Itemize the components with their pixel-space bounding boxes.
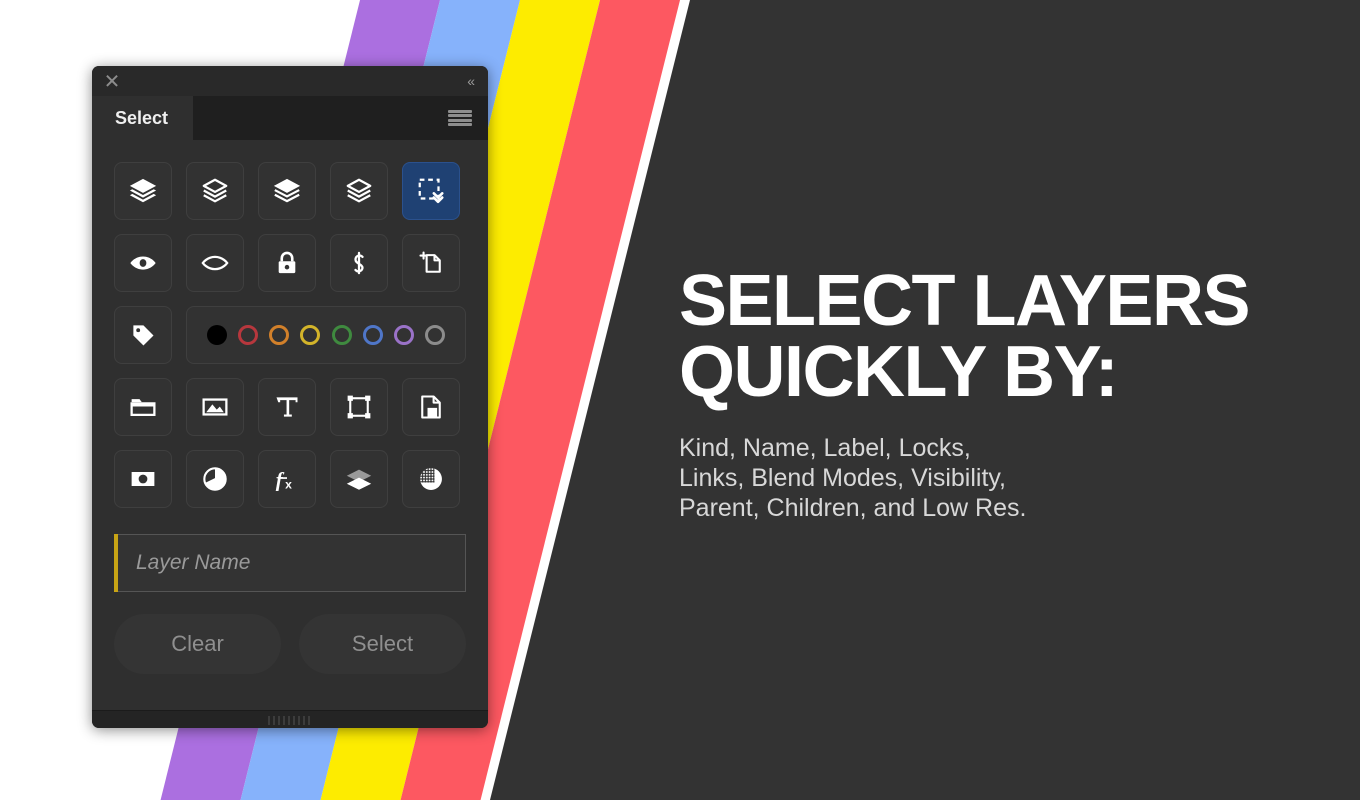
shape-nodes-icon — [345, 393, 373, 421]
group-folder-button[interactable] — [114, 378, 172, 436]
tab-select-label: Select — [115, 108, 168, 129]
tab-select[interactable]: Select — [92, 96, 193, 140]
marquee-chevron-icon — [416, 176, 446, 206]
page-title: SELECT LAYERS QUICKLY BY: — [679, 266, 1299, 409]
panel-footer — [92, 710, 488, 728]
bottom-layers-button[interactable] — [330, 162, 388, 220]
mask-icon — [129, 465, 157, 493]
linked-layers-button[interactable] — [330, 234, 388, 292]
layers-stack-bottom-outline-icon — [344, 176, 374, 206]
image-icon — [201, 393, 229, 421]
blend-mode-button[interactable] — [330, 450, 388, 508]
layer-name-field — [114, 534, 466, 592]
swatch-none[interactable] — [207, 325, 227, 345]
all-layers-button[interactable] — [114, 162, 172, 220]
lock-icon — [273, 249, 301, 277]
select-panel: « Select — [92, 66, 488, 728]
swatch-violet[interactable] — [394, 325, 414, 345]
folder-icon — [129, 393, 157, 421]
promo-subtext: Kind, Name, Label, Locks, Links, Blend M… — [679, 433, 1199, 523]
low-res-button[interactable] — [402, 450, 460, 508]
svg-text:f: f — [276, 470, 285, 492]
blend-layers-icon — [344, 464, 374, 494]
half-circle-icon — [201, 465, 229, 493]
label-color-swatches — [186, 306, 466, 364]
eye-empty-icon — [200, 248, 230, 278]
pixel-mask-button[interactable] — [114, 450, 172, 508]
filter-row-label-colors — [114, 306, 466, 364]
shape-layer-button[interactable] — [330, 378, 388, 436]
filter-row-layer-types — [114, 378, 466, 436]
smart-object-button[interactable] — [402, 378, 460, 436]
swatch-red[interactable] — [238, 325, 258, 345]
close-icon[interactable] — [104, 73, 120, 89]
marquee-select-button[interactable] — [402, 162, 460, 220]
headline-line-1: SELECT LAYERS — [679, 266, 1299, 337]
resize-grip[interactable] — [268, 716, 312, 725]
eye-open-icon — [128, 248, 158, 278]
swatch-green[interactable] — [332, 325, 352, 345]
swatch-orange[interactable] — [269, 325, 289, 345]
filter-row-effects: f x — [114, 450, 466, 508]
panel-actions: Clear Select — [114, 614, 466, 674]
text-layer-button[interactable] — [258, 378, 316, 436]
adjustment-layer-button[interactable] — [186, 450, 244, 508]
visible-layers-button[interactable] — [114, 234, 172, 292]
label-color-button[interactable] — [114, 306, 172, 364]
low-res-halftone-icon — [417, 465, 445, 493]
locked-layers-button[interactable] — [258, 234, 316, 292]
hidden-layers-button[interactable] — [186, 234, 244, 292]
top-layer-button[interactable] — [258, 162, 316, 220]
hamburger-icon[interactable] — [448, 110, 472, 126]
layers-stack-filled-icon — [128, 176, 158, 206]
layer-name-input[interactable] — [118, 534, 466, 592]
new-document-button[interactable] — [402, 234, 460, 292]
headline-line-2: QUICKLY BY: — [679, 337, 1299, 408]
collapse-panel-icon[interactable]: « — [467, 72, 474, 90]
type-t-icon — [273, 393, 301, 421]
panel-body: f x — [92, 140, 488, 710]
link-chain-icon — [345, 249, 373, 277]
filter-row-layer-kinds — [114, 162, 466, 220]
subtext-line-3: Parent, Children, and Low Res. — [679, 493, 1199, 523]
fx-icon: f x — [272, 464, 302, 494]
stage: « Select — [0, 0, 1360, 800]
image-layer-button[interactable] — [186, 378, 244, 436]
select-button[interactable]: Select — [299, 614, 466, 674]
swatch-gray[interactable] — [425, 325, 445, 345]
clear-button[interactable]: Clear — [114, 614, 281, 674]
layers-stack-outline-icon — [200, 176, 230, 206]
document-plus-icon — [417, 249, 445, 277]
layers-stack-top-filled-icon — [272, 176, 302, 206]
swatch-yellow[interactable] — [300, 325, 320, 345]
swatch-blue[interactable] — [363, 325, 383, 345]
layers-outline-button[interactable] — [186, 162, 244, 220]
tag-icon — [129, 321, 157, 349]
svg-text:x: x — [285, 477, 292, 491]
layer-effects-button[interactable]: f x — [258, 450, 316, 508]
panel-titlebar: « — [92, 66, 488, 96]
filter-row-visibility-locks — [114, 234, 466, 292]
subtext-line-1: Kind, Name, Label, Locks, — [679, 433, 1199, 463]
smart-object-icon — [417, 393, 445, 421]
subtext-line-2: Links, Blend Modes, Visibility, — [679, 463, 1199, 493]
panel-tabbar: Select — [92, 96, 488, 140]
